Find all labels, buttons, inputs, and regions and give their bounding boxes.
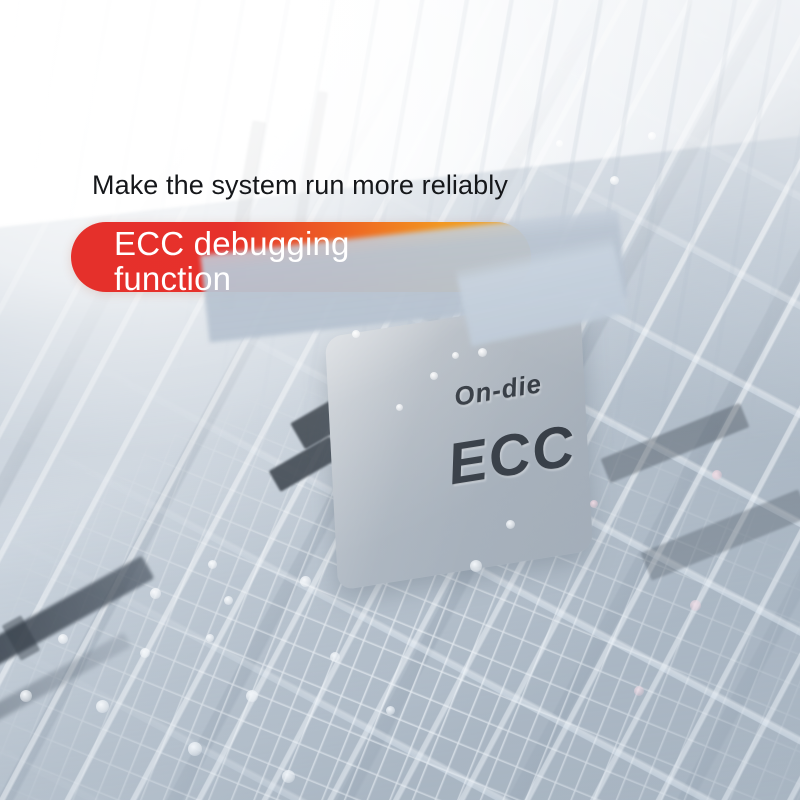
ecc-promo-poster: On-die ECC Make the system run more reli… [0, 0, 800, 800]
badge-pill [71, 222, 531, 292]
page-title: Make the system run more reliably [92, 170, 508, 201]
